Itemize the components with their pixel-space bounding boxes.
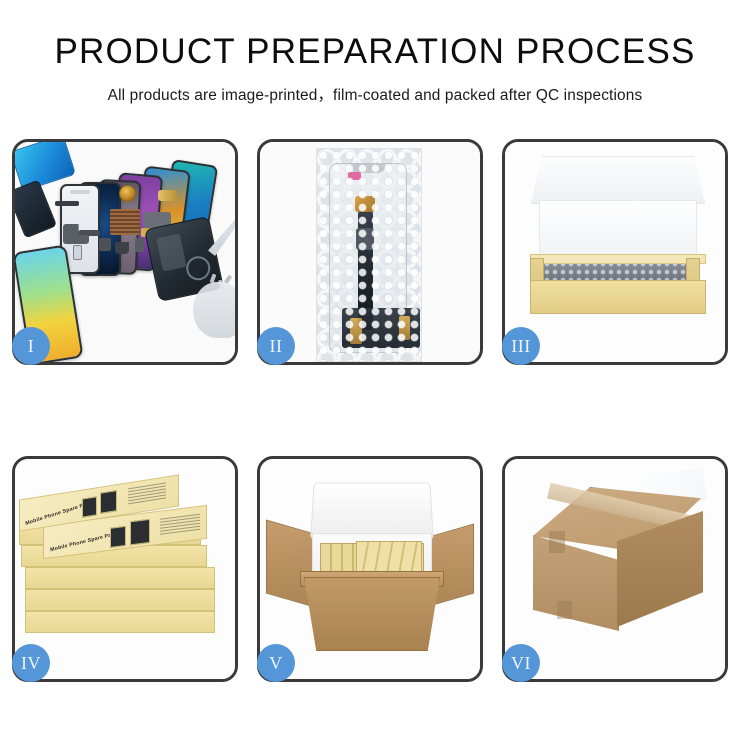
carton-seam-tab-lower xyxy=(557,601,572,619)
step-panel-5[interactable]: V xyxy=(257,456,483,682)
step-image-6 xyxy=(505,459,725,679)
sim-tray-part xyxy=(73,245,82,260)
retail-box-phone-image-2b xyxy=(130,519,150,545)
gold-contact-part xyxy=(158,190,177,201)
taptic-engine-part xyxy=(115,242,129,254)
step-image-2 xyxy=(260,142,480,362)
step-panel-4[interactable]: Mobile Phone Spare Parts Mobile Phone Sp… xyxy=(12,456,238,682)
step-image-3 xyxy=(505,142,725,362)
copper-coil-part xyxy=(119,185,136,202)
phone-products-scene xyxy=(15,142,235,362)
retail-box-phone-image-1b xyxy=(100,490,117,514)
styrofoam-lid xyxy=(310,482,434,539)
step-badge-5: V xyxy=(257,644,295,682)
phone-back-panel xyxy=(15,179,57,238)
box-front-panel xyxy=(530,280,706,314)
retail-box-phone-image-2a xyxy=(110,526,126,548)
button-part xyxy=(135,238,144,252)
retail-box-edge-4 xyxy=(25,567,215,589)
step-panel-1[interactable]: I xyxy=(12,139,238,365)
hand-holding-part xyxy=(193,282,235,338)
step-image-1 xyxy=(15,142,235,362)
bubble-wrap-bag xyxy=(316,148,422,362)
step-badge-4: IV xyxy=(12,644,50,682)
retail-box-edge-6 xyxy=(25,611,215,633)
page-subtitle: All products are image-printed，film-coat… xyxy=(0,83,750,105)
step-badge-3: III xyxy=(502,327,540,365)
step-image-5 xyxy=(260,459,480,679)
step-badge-6: VI xyxy=(502,644,540,682)
carton-seam-tab-upper xyxy=(549,531,565,553)
step-badge-1: I xyxy=(12,327,50,365)
product-preparation-infographic: PRODUCT PREPARATION PROCESS All products… xyxy=(0,0,750,750)
box-lid-flap xyxy=(531,156,705,204)
camera-module-part xyxy=(99,238,111,251)
retail-box-phone-image-1a xyxy=(82,496,97,517)
bubble-texture xyxy=(317,149,421,361)
retail-box-stack: Mobile Phone Spare Parts Mobile Phone Sp… xyxy=(15,459,235,679)
step-image-4: Mobile Phone Spare Parts Mobile Phone Sp… xyxy=(15,459,235,679)
step-badge-2: II xyxy=(257,327,295,365)
box-top-edge xyxy=(530,254,706,264)
retail-box-edge-5 xyxy=(25,589,215,611)
speaker-part xyxy=(55,201,79,206)
steps-grid: I II xyxy=(12,139,738,682)
chip-grid-part xyxy=(110,209,140,235)
carton-left-face xyxy=(533,535,619,631)
step-panel-3[interactable]: III xyxy=(502,139,728,365)
page-title: PRODUCT PREPARATION PROCESS xyxy=(0,32,750,72)
foam-sheet xyxy=(539,200,697,262)
header: PRODUCT PREPARATION PROCESS All products… xyxy=(0,0,750,105)
carton-body xyxy=(304,577,440,651)
step-panel-2[interactable]: II xyxy=(257,139,483,365)
step-panel-6[interactable]: VI xyxy=(502,456,728,682)
